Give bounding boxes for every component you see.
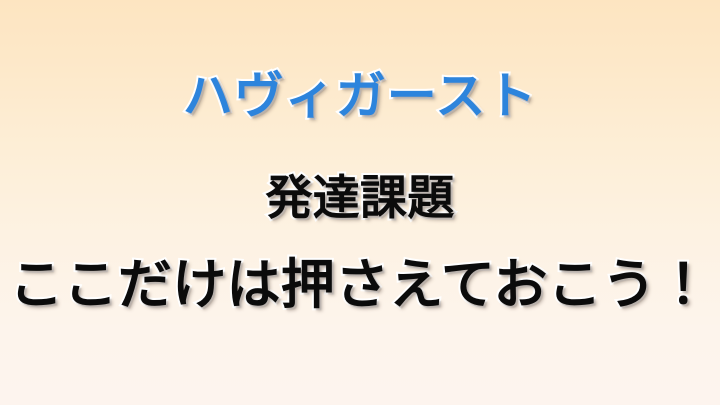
text-stack: ハヴィガースト 発達課題 ここだけは押さえておこう！ xyxy=(0,0,720,405)
subheadline-text: 発達課題 xyxy=(0,175,720,222)
headline-text: ハヴィガースト xyxy=(0,71,720,121)
callout-text: ここだけは押さえておこう！ xyxy=(0,258,720,312)
title-card-slide: ハヴィガースト 発達課題 ここだけは押さえておこう！ xyxy=(0,0,720,405)
